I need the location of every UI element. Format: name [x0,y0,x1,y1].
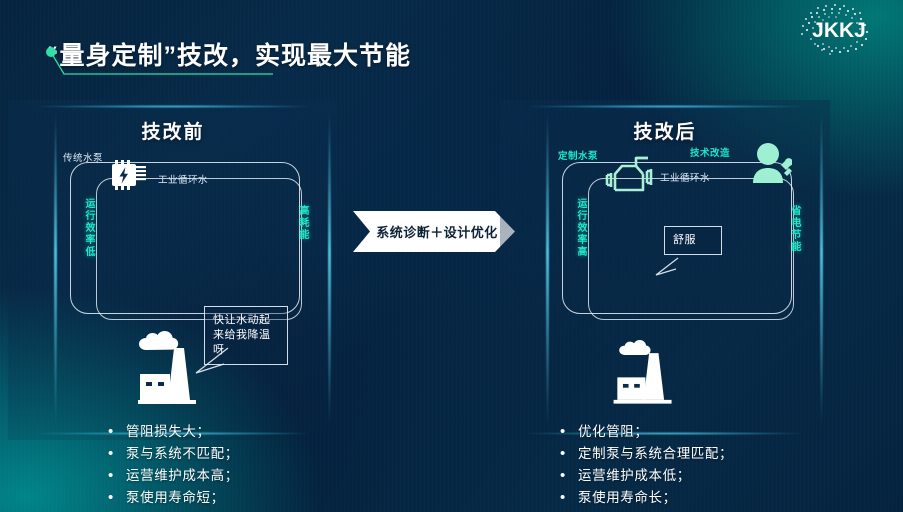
bullet-marker: • [108,466,126,486]
list-item: • 优化管阻； [560,422,733,442]
bullet-marker: • [108,444,126,464]
panel-after: 技改后 定制水泵 工业循环水 技术改造 运行效率高 省电节能 [500,100,830,440]
bullet-label: 泵使用寿命长； [578,488,677,508]
inner-loop-before [96,178,302,320]
list-item: • 泵与系统不匹配； [108,444,239,464]
bullet-marker: • [560,488,578,508]
bullet-label: 运营维护成本低； [578,466,691,486]
side-label-efficiency-after: 运行效率高 [573,198,588,258]
panel-top-glow [34,105,311,108]
panel-top-glow [526,105,803,108]
tech-label-after: 技术改造 [690,145,730,159]
bullet-label: 泵与系统不匹配； [126,444,239,464]
speech-bubble-tail-after-icon [654,256,688,278]
bullet-list-before: • 管阻损失大； • 泵与系统不匹配； • 运营维护成本高； • 泵使用寿命短；… [108,422,239,512]
panel-title-before: 技改前 [8,117,338,144]
bullet-label: 管阻损失大； [126,422,211,442]
bullet-marker: • [108,488,126,508]
slide-canvas: JKKJ “量身定制”技改，实现最大节能 技改前 传统水泵 工业循环水 运行效率… [0,0,903,512]
panel-left-glow [54,108,57,430]
bullet-label: 泵使用寿命短； [126,488,225,508]
side-label-efficiency-before: 运行效率低 [81,198,96,258]
pump-label-before: 传统水泵 [63,150,103,164]
speech-bubble-tail-before-icon [194,346,242,376]
water-label-before: 工业循环水 [158,172,208,186]
list-item: • 运营维护成本高； [108,466,239,486]
slide-title-block: “量身定制”技改，实现最大节能 [46,36,411,72]
list-item: • 运营维护成本低； [560,466,733,486]
bullet-list-after: • 优化管阻； • 定制泵与系统合理匹配； • 运营维护成本低； • 泵使用寿命… [560,422,733,512]
bullet-marker: • [108,422,126,442]
electric-motor-pump-icon [111,158,147,192]
panel-before: 技改前 传统水泵 工业循环水 运行效率低 高耗能 [8,100,338,440]
side-label-energy-before: 高耗能 [295,205,310,241]
swirl-dots-logo-icon: JKKJ [789,4,893,56]
bullet-label: 优化管阻； [578,422,649,442]
process-arrow-label: 系统诊断＋设计优化 [353,211,515,252]
bullet-marker: • [560,444,578,464]
pump-label-after: 定制水泵 [558,148,598,162]
bullet-marker: • [560,422,578,442]
title-accent-icon [45,46,275,88]
bullet-marker: • [560,466,578,486]
panel-left-glow [546,108,549,430]
brand-logo: JKKJ [789,4,893,56]
speech-bubble-after: 舒服 [664,226,722,255]
list-item: • 泵使用寿命短； [108,488,239,508]
custom-pump-valve-icon [603,156,655,194]
engineer-with-wrench-icon [750,141,792,183]
panel-title-after: 技改后 [500,117,830,144]
bullet-label: 运营维护成本高； [126,466,239,486]
panel-right-glow [820,108,823,430]
list-item: • 定制泵与系统合理匹配； [560,444,733,464]
process-arrow: 系统诊断＋设计优化 [353,211,515,252]
panel-right-glow [328,108,331,430]
list-item: • 管阻损失大； [108,422,239,442]
factory-smokestack-icon [608,332,694,406]
bullet-label: 定制泵与系统合理匹配； [578,444,733,464]
water-label-after: 工业循环水 [660,170,710,184]
logo-wordmark: JKKJ [812,19,866,42]
side-label-saving-after: 省电节能 [787,205,802,253]
list-item: • 泵使用寿命长； [560,488,733,508]
